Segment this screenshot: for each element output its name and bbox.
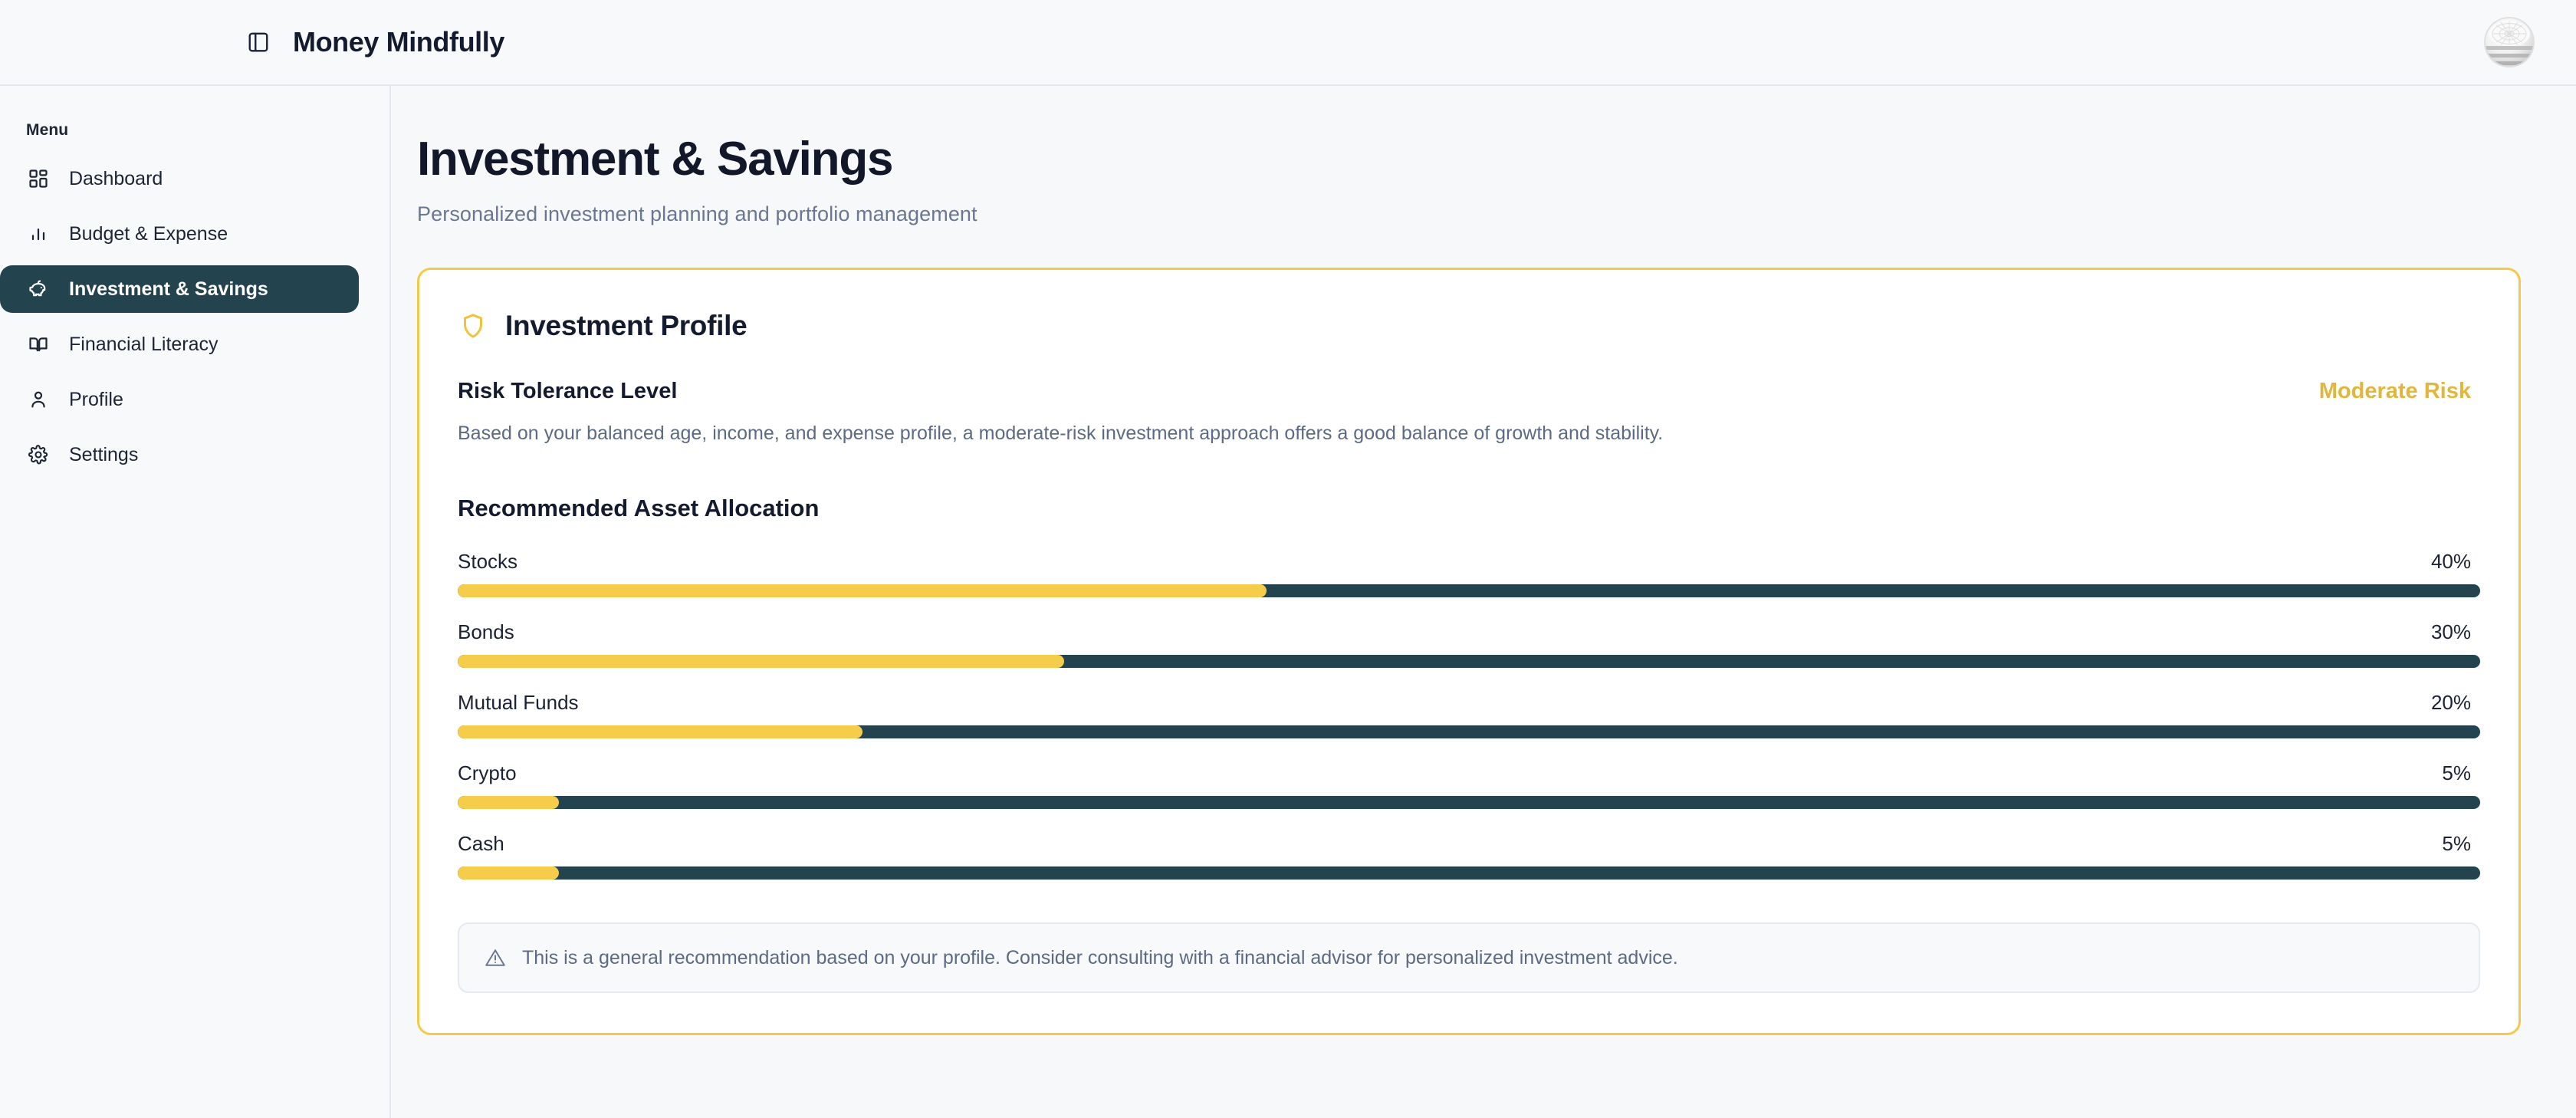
allocation-label: Bonds <box>458 620 514 644</box>
allocation-value: 30% <box>2431 620 2471 644</box>
gear-icon <box>26 442 51 467</box>
allocation-label: Mutual Funds <box>458 691 579 715</box>
panel-left-icon[interactable] <box>244 28 273 57</box>
bar-chart-icon <box>26 222 51 246</box>
shield-icon <box>458 311 488 341</box>
allocation-row-head: Stocks 40% <box>458 550 2480 574</box>
sidebar-item-budget-expense[interactable]: Budget & Expense <box>0 210 359 258</box>
allocation-row: Cash 5% <box>458 832 2480 880</box>
allocation-label: Cash <box>458 832 504 856</box>
allocation-bar-fill <box>458 584 1267 597</box>
allocation-row: Stocks 40% <box>458 550 2480 597</box>
allocation-row: Bonds 30% <box>458 620 2480 668</box>
sidebar-item-investment-savings[interactable]: Investment & Savings <box>0 265 359 313</box>
allocation-row-head: Bonds 30% <box>458 620 2480 644</box>
sidebar-item-financial-literacy[interactable]: Financial Literacy <box>0 321 359 368</box>
risk-tolerance-heading: Risk Tolerance Level <box>458 379 677 404</box>
main-content: Investment & Savings Personalized invest… <box>391 86 2576 1118</box>
allocation-value: 5% <box>2442 761 2471 785</box>
allocation-label: Stocks <box>458 550 517 574</box>
sidebar-nav: Dashboard Budget & Expense <box>0 155 359 478</box>
allocation-row-head: Cash 5% <box>458 832 2480 856</box>
body-split: Menu Dashboard <box>0 86 2576 1118</box>
allocation-row: Crypto 5% <box>458 761 2480 809</box>
card-header: Investment Profile <box>458 304 2480 347</box>
allocation-bar-fill <box>458 655 1064 668</box>
app-root: Money Mindfully <box>0 0 2576 1118</box>
investment-profile-card: Investment Profile Risk Tolerance Level … <box>417 268 2521 1035</box>
sidebar: Menu Dashboard <box>0 86 391 1118</box>
allocation-bar-fill <box>458 725 863 738</box>
asset-allocation-heading: Recommended Asset Allocation <box>458 495 2480 522</box>
allocation-bar-fill <box>458 866 559 880</box>
allocation-row-head: Crypto 5% <box>458 761 2480 785</box>
avatar[interactable] <box>2484 17 2535 67</box>
sidebar-item-settings[interactable]: Settings <box>0 431 359 478</box>
page-subtitle: Personalized investment planning and por… <box>417 202 2521 226</box>
asset-allocation-list: Stocks 40% Bonds 30% <box>458 550 2480 880</box>
disclaimer-text: This is a general recommendation based o… <box>522 945 1678 971</box>
layout-grid-icon <box>26 166 51 191</box>
user-avatar-image <box>2484 17 2535 67</box>
sidebar-item-label: Dashboard <box>69 168 163 190</box>
disclaimer-note: This is a general recommendation based o… <box>458 922 2480 994</box>
status-badge: Moderate Risk <box>2319 379 2480 404</box>
sidebar-item-label: Settings <box>69 444 138 466</box>
sidebar-item-label: Financial Literacy <box>69 334 219 356</box>
allocation-bar-track <box>458 584 2480 597</box>
allocation-value: 5% <box>2442 832 2471 856</box>
allocation-row-head: Mutual Funds 20% <box>458 691 2480 715</box>
page-title: Investment & Savings <box>417 133 2521 186</box>
sidebar-item-label: Investment & Savings <box>69 278 268 301</box>
top-bar: Money Mindfully <box>0 0 2576 86</box>
sidebar-item-label: Profile <box>69 389 123 411</box>
allocation-bar-track <box>458 866 2480 880</box>
risk-tolerance-row: Risk Tolerance Level Moderate Risk <box>458 379 2480 404</box>
allocation-bar-track <box>458 725 2480 738</box>
allocation-bar-track <box>458 655 2480 668</box>
sidebar-section-label: Menu <box>0 107 359 155</box>
risk-tolerance-description: Based on your balanced age, income, and … <box>458 421 2480 447</box>
top-bar-left: Money Mindfully <box>0 26 504 58</box>
piggy-bank-icon <box>26 277 51 301</box>
sidebar-item-profile[interactable]: Profile <box>0 376 359 423</box>
allocation-value: 20% <box>2431 691 2471 715</box>
sidebar-item-label: Budget & Expense <box>69 223 228 245</box>
allocation-value: 40% <box>2431 550 2471 574</box>
card-title: Investment Profile <box>505 310 747 342</box>
allocation-bar-track <box>458 796 2480 809</box>
user-icon <box>26 387 51 412</box>
allocation-bar-fill <box>458 796 559 809</box>
book-open-icon <box>26 332 51 357</box>
allocation-label: Crypto <box>458 761 517 785</box>
allocation-row: Mutual Funds 20% <box>458 691 2480 738</box>
app-title: Money Mindfully <box>293 26 504 58</box>
alert-triangle-icon <box>484 946 507 969</box>
sidebar-item-dashboard[interactable]: Dashboard <box>0 155 359 202</box>
